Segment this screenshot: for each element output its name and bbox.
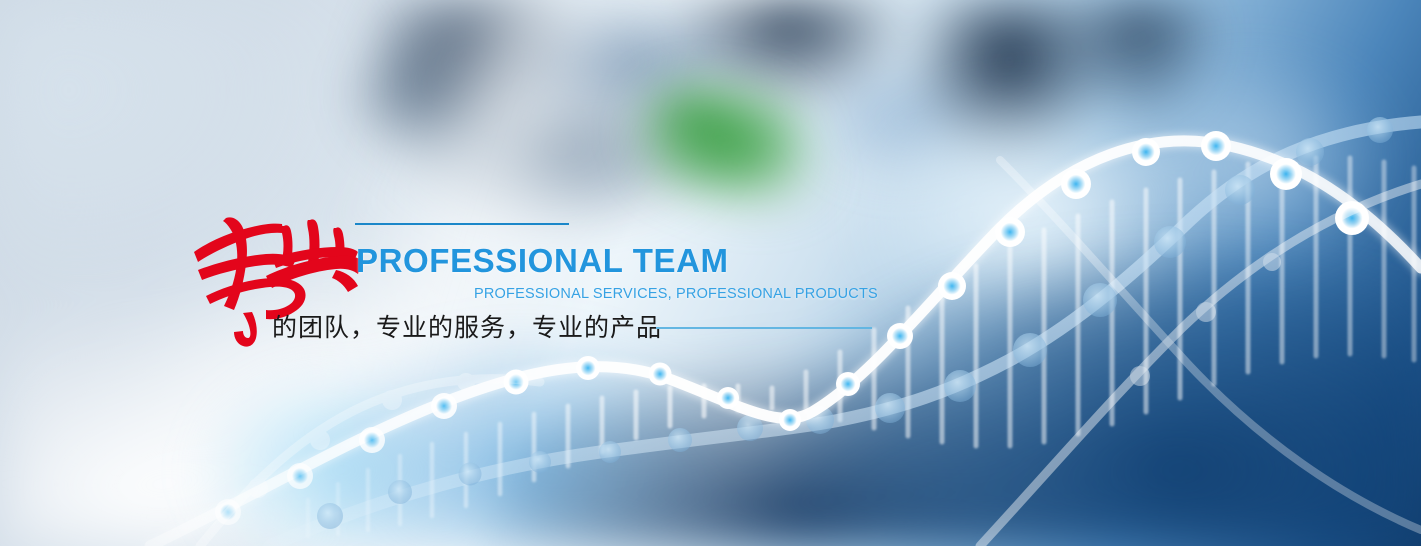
banner-hero: PROFESSIONAL TEAM PROFESSIONAL SERVICES,… bbox=[0, 0, 1421, 546]
decorative-rule-top bbox=[355, 223, 569, 225]
page-title: PROFESSIONAL TEAM bbox=[356, 242, 729, 280]
tagline-chinese: 的团队，专业的服务，专业的产品 bbox=[272, 308, 662, 344]
banner-content: PROFESSIONAL TEAM PROFESSIONAL SERVICES,… bbox=[0, 0, 1421, 546]
decorative-rule-bottom bbox=[656, 327, 872, 329]
page-subtitle: PROFESSIONAL SERVICES, PROFESSIONAL PROD… bbox=[474, 286, 878, 302]
